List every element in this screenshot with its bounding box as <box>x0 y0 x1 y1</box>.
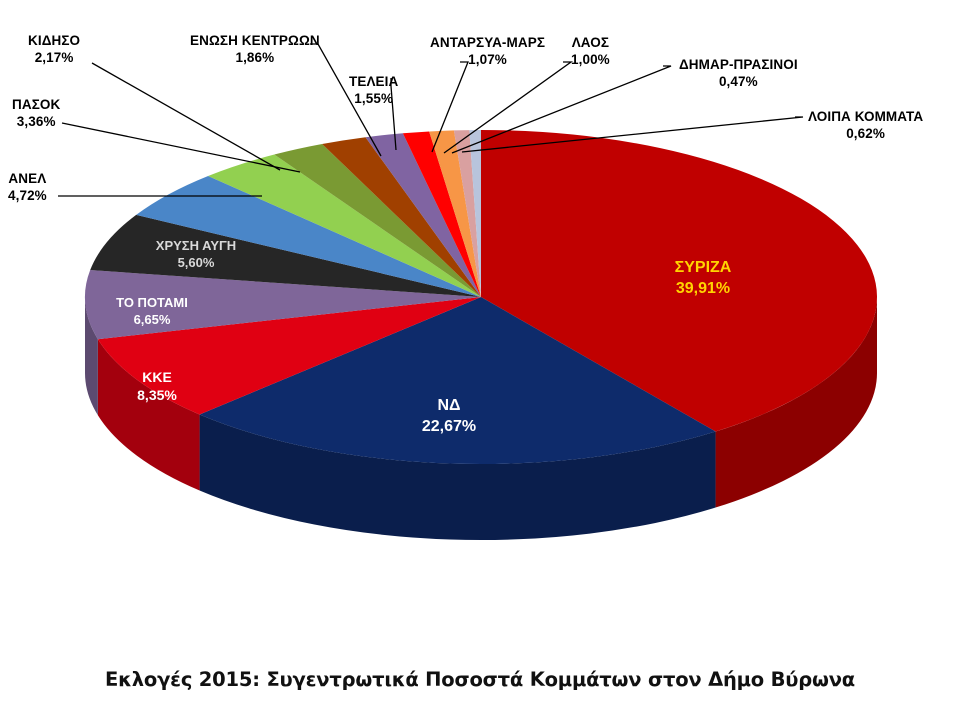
chart-canvas: ΚΙΔΗΣΟ 2,17% ΕΝΩΣΗ ΚΕΝΤΡΩΩΝ 1,86% ΤΕΛΕΙΑ… <box>0 0 960 720</box>
slice-label-syriza-pct: 39,91% <box>648 279 758 300</box>
callout-loipa: ΛΟΙΠΑ ΚΟΜΜΑΤΑ 0,62% <box>808 108 923 143</box>
slice-label-nd-name: ΝΔ <box>437 397 460 414</box>
slice-label-kke-name: ΚΚΕ <box>142 369 172 385</box>
callout-teleia-label: ΤΕΛΕΙΑ <box>349 74 398 89</box>
slice-label-nd: ΝΔ 22,67% <box>394 396 504 438</box>
callout-laos: ΛΑΟΣ 1,00% <box>571 34 610 69</box>
slice-label-potami: ΤΟ ΠΟΤΑΜΙ 6,65% <box>92 295 212 329</box>
callout-anel-label: ΑΝΕΛ <box>8 171 46 186</box>
callout-pasok-pct: 3,36% <box>12 113 60 130</box>
callout-enosi-pct: 1,86% <box>190 49 320 66</box>
callout-laos-pct: 1,00% <box>571 51 610 68</box>
slice-label-kke: ΚΚΕ 8,35% <box>104 368 210 404</box>
leader-line-kidiso <box>92 63 280 170</box>
callout-enosi-label: ΕΝΩΣΗ ΚΕΝΤΡΩΩΝ <box>190 33 320 48</box>
callout-loipa-pct: 0,62% <box>808 125 923 142</box>
callout-antarsya-label: ΑΝΤΑΡΣΥΑ-ΜΑΡΣ <box>430 35 545 50</box>
leader-line-pasok <box>62 123 300 172</box>
callout-pasok-label: ΠΑΣΟΚ <box>12 97 60 112</box>
callout-kidiso: ΚΙΔΗΣΟ 2,17% <box>28 32 80 67</box>
callout-dimar-pct: 0,47% <box>679 73 798 90</box>
callout-dimar: ΔΗΜΑΡ-ΠΡΑΣΙΝΟΙ 0,47% <box>679 56 798 91</box>
callout-dimar-label: ΔΗΜΑΡ-ΠΡΑΣΙΝΟΙ <box>679 57 798 72</box>
slice-label-syriza-name: ΣΥΡΙΖΑ <box>675 259 732 276</box>
callout-antarsya: ΑΝΤΑΡΣΥΑ-ΜΑΡΣ 1,07% <box>430 34 545 69</box>
callout-anel: ΑΝΕΛ 4,72% <box>8 170 47 205</box>
slice-label-xrysi-avgi: ΧΡΥΣΗ ΑΥΓΗ 5,60% <box>134 238 258 272</box>
callout-teleia-pct: 1,55% <box>349 90 398 107</box>
callout-anel-pct: 4,72% <box>8 187 47 204</box>
callout-antarsya-pct: 1,07% <box>430 51 545 68</box>
chart-title: Εκλογές 2015: Συγεντρωτικά Ποσοστά Κομμά… <box>0 668 960 691</box>
callout-teleia: ΤΕΛΕΙΑ 1,55% <box>349 73 398 108</box>
slice-label-potami-pct: 6,65% <box>92 312 212 329</box>
callout-enosi: ΕΝΩΣΗ ΚΕΝΤΡΩΩΝ 1,86% <box>190 32 320 67</box>
callout-laos-label: ΛΑΟΣ <box>572 35 609 50</box>
slice-label-syriza: ΣΥΡΙΖΑ 39,91% <box>648 258 758 300</box>
callout-kidiso-pct: 2,17% <box>28 49 80 66</box>
slice-label-potami-name: ΤΟ ΠΟΤΑΜΙ <box>116 295 188 310</box>
callout-pasok: ΠΑΣΟΚ 3,36% <box>12 96 60 131</box>
slice-label-xrysi-avgi-pct: 5,60% <box>134 255 258 272</box>
slice-label-xrysi-avgi-name: ΧΡΥΣΗ ΑΥΓΗ <box>156 238 236 253</box>
callout-loipa-label: ΛΟΙΠΑ ΚΟΜΜΑΤΑ <box>808 109 923 124</box>
callout-kidiso-label: ΚΙΔΗΣΟ <box>28 33 80 48</box>
slice-label-kke-pct: 8,35% <box>104 386 210 404</box>
slice-label-nd-pct: 22,67% <box>394 417 504 438</box>
